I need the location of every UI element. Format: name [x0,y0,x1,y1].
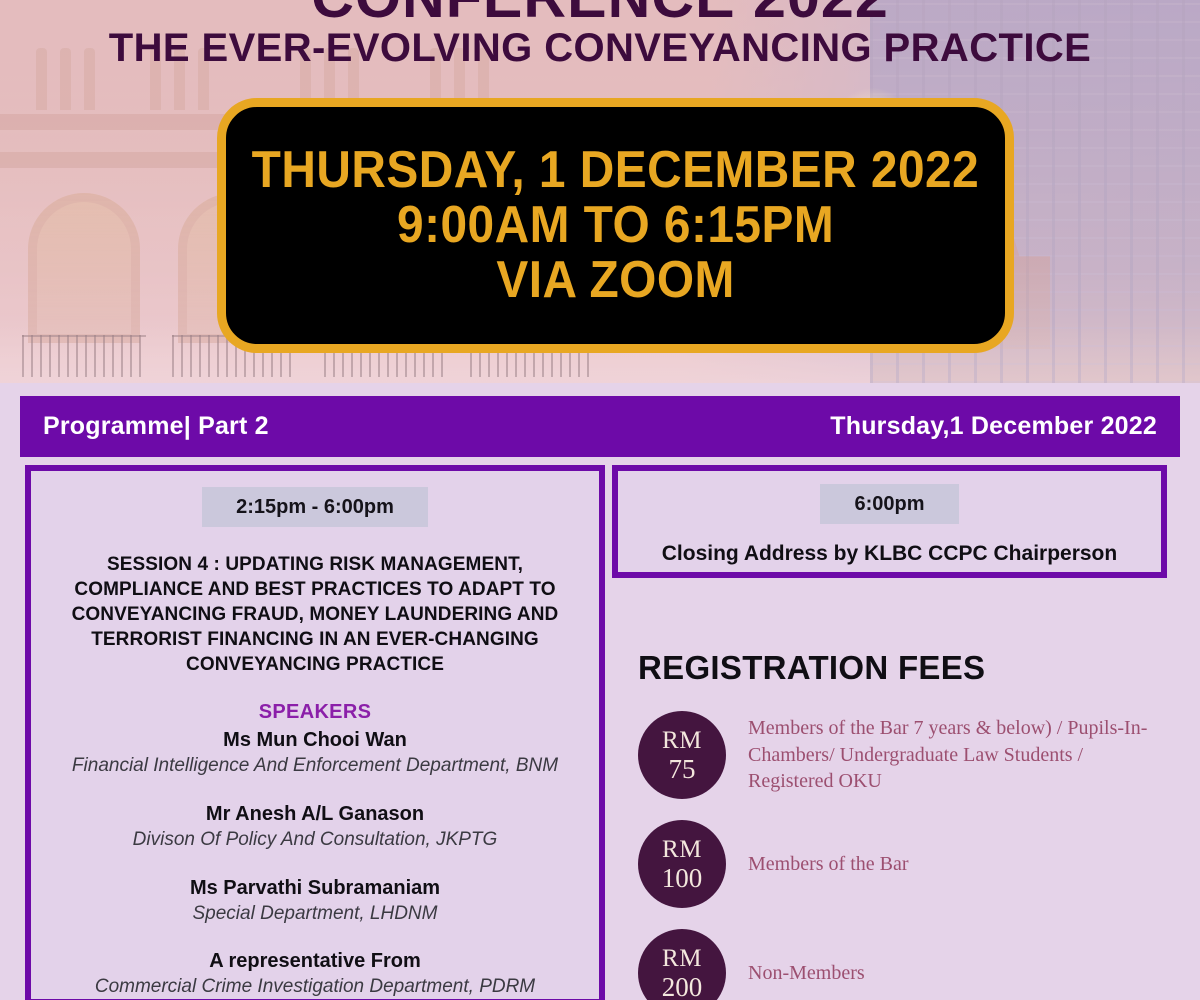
speaker-entry: Ms Parvathi Subramaniam Special Departme… [45,875,585,927]
speaker-organisation: Commercial Crime Investigation Departmen… [45,975,585,1000]
fee-description: Members of the Bar 7 years & below) / Pu… [748,715,1148,794]
fee-amount-badge: RM 75 [638,711,726,799]
fee-amount-badge: RM 200 [638,929,726,1000]
speaker-entry: A representative From Commercial Crime I… [45,948,585,1000]
conference-title: CONFERENCE 2022 [0,0,1200,28]
fee-row: RM 100 Members of the Bar [638,820,1167,908]
speaker-name: A representative From [45,948,585,974]
event-platform: VIA ZOOM [496,254,734,307]
event-time: 9:00AM TO 6:15PM [397,199,834,252]
fee-currency: RM [662,837,702,862]
speaker-organisation: Special Department, LHDNM [45,902,585,927]
conference-title-wrap: CONFERENCE 2022 [0,0,1200,28]
fee-amount: 200 [662,974,703,1000]
programme-part-label: Programme| Part 2 [43,412,269,441]
speaker-name: Ms Mun Chooi Wan [45,727,585,753]
registration-fees-list: RM 75 Members of the Bar 7 years & below… [638,711,1167,1000]
speaker-entry: Ms Mun Chooi Wan Financial Intelligence … [45,727,585,779]
event-date: THURSDAY, 1 DECEMBER 2022 [252,144,980,197]
speaker-name: Ms Parvathi Subramaniam [45,875,585,901]
session-panel: 2:15pm - 6:00pm SESSION 4 : UPDATING RIS… [25,465,605,1000]
speakers-heading: SPEAKERS [45,701,585,724]
programme-header-bar: Programme| Part 2 Thursday,1 December 20… [20,396,1180,457]
date-time-card: THURSDAY, 1 DECEMBER 2022 9:00AM TO 6:15… [217,98,1014,353]
programme-date-label: Thursday,1 December 2022 [830,412,1157,441]
fee-amount-badge: RM 100 [638,820,726,908]
fee-description: Members of the Bar [748,851,909,877]
closing-address-text: Closing Address by KLBC CCPC Chairperson [630,542,1149,566]
session-title: SESSION 4 : UPDATING RISK MANAGEMENT, CO… [45,552,585,677]
fee-row: RM 200 Non-Members [638,929,1167,1000]
right-column: 6:00pm Closing Address by KLBC CCPC Chai… [612,465,1167,1000]
fee-currency: RM [662,728,702,753]
speaker-organisation: Divison Of Policy And Consultation, JKPT… [45,828,585,853]
hero-banner: CONFERENCE 2022 THE EVER-EVOLVING CONVEY… [0,0,1200,383]
fee-description: Non-Members [748,960,865,986]
conference-subtitle: THE EVER-EVOLVING CONVEYANCING PRACTICE [0,26,1200,71]
fee-row: RM 75 Members of the Bar 7 years & below… [638,711,1167,799]
conference-poster: CONFERENCE 2022 THE EVER-EVOLVING CONVEY… [0,0,1200,1000]
closing-time-chip: 6:00pm [820,484,958,524]
fee-amount: 100 [662,865,703,892]
content-area: 2:15pm - 6:00pm SESSION 4 : UPDATING RIS… [0,465,1200,1000]
closing-address-panel: 6:00pm Closing Address by KLBC CCPC Chai… [612,465,1167,578]
fee-amount: 75 [669,756,696,783]
registration-fees-heading: REGISTRATION FEES [638,649,1167,687]
session-time-chip: 2:15pm - 6:00pm [202,487,428,527]
speaker-entry: Mr Anesh A/L Ganason Divison Of Policy A… [45,801,585,853]
speaker-name: Mr Anesh A/L Ganason [45,801,585,827]
speaker-organisation: Financial Intelligence And Enforcement D… [45,754,585,779]
fee-currency: RM [662,946,702,971]
